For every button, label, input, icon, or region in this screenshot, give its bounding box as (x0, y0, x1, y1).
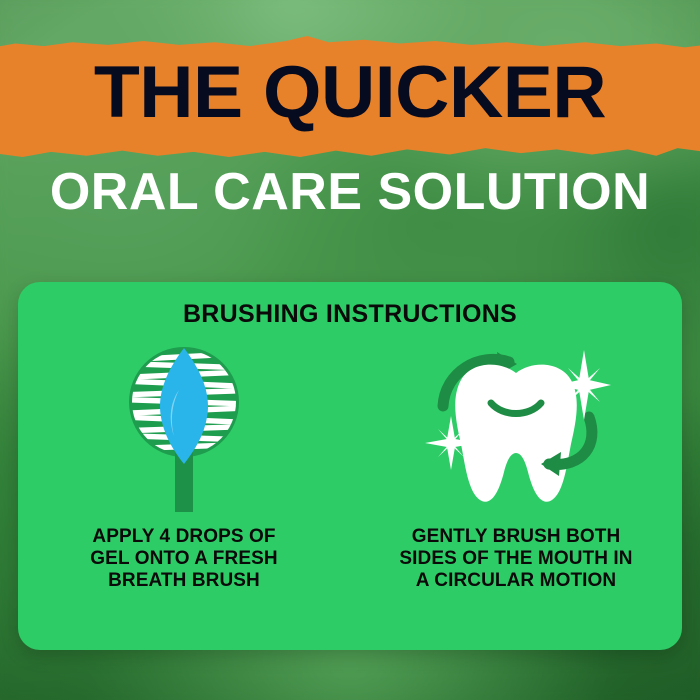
step-item: APPLY 4 DROPS OF GEL ONTO A FRESH BREATH… (18, 340, 350, 640)
step-caption: APPLY 4 DROPS OF GEL ONTO A FRESH BREATH… (90, 526, 277, 592)
step-item: GENTLY BRUSH BOTH SIDES OF THE MOUTH IN … (350, 340, 682, 640)
toothbrush-gel-icon (99, 340, 269, 512)
card-heading: BRUSHING INSTRUCTIONS (18, 300, 682, 329)
page-subtitle: ORAL CARE SOLUTION (0, 166, 700, 218)
page-title: THE QUICKER (0, 56, 700, 129)
instructions-card: BRUSHING INSTRUCTIONS (18, 282, 682, 650)
step-artwork (421, 340, 611, 512)
poster-canvas: THE QUICKER ORAL CARE SOLUTION BRUSHING … (0, 0, 700, 700)
step-artwork (99, 340, 269, 512)
tooth-circular-motion-icon (421, 340, 611, 512)
steps-container: APPLY 4 DROPS OF GEL ONTO A FRESH BREATH… (18, 340, 682, 640)
step-caption: GENTLY BRUSH BOTH SIDES OF THE MOUTH IN … (399, 526, 632, 592)
